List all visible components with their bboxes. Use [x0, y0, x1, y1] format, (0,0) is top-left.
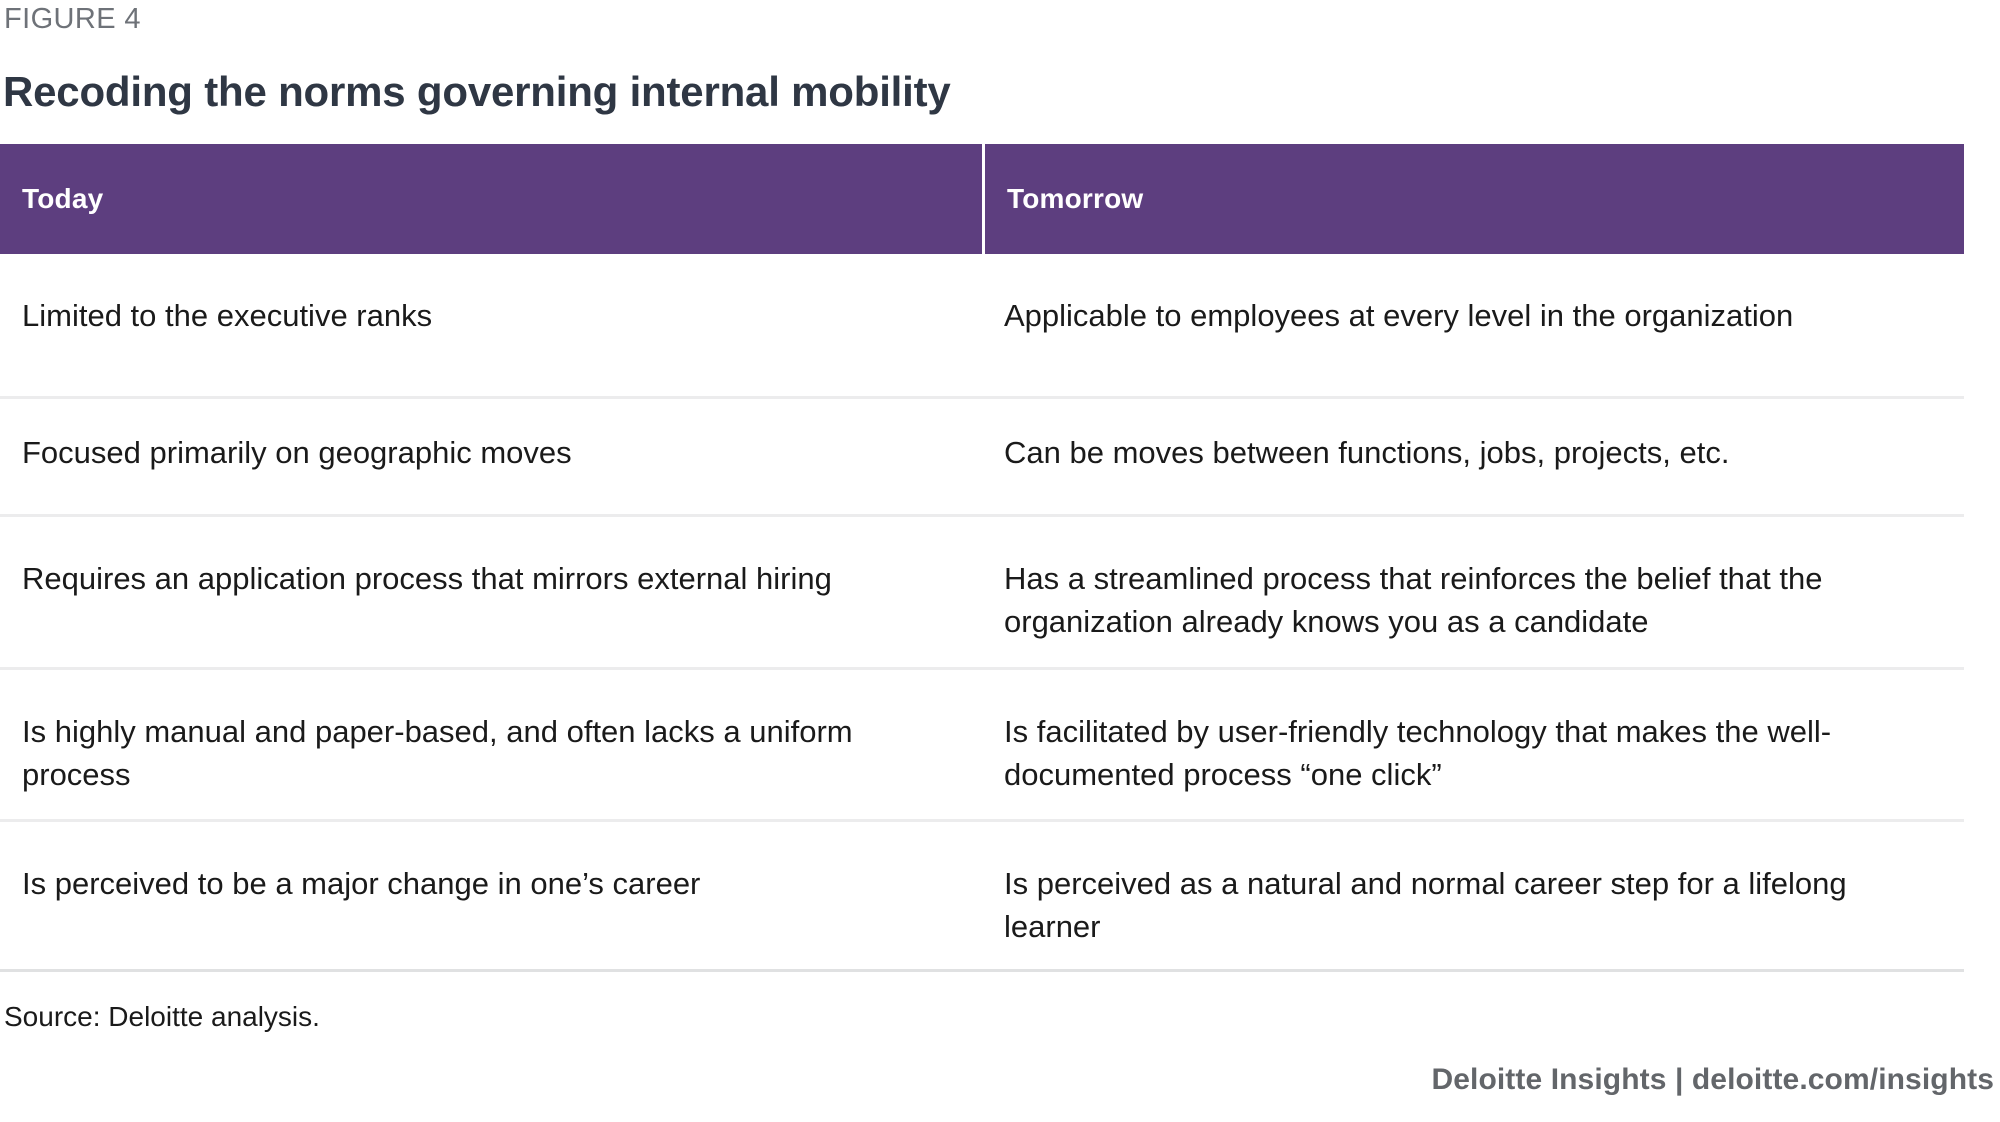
table-row: Is highly manual and paper-based, and of…: [0, 670, 1964, 822]
table-row: Is perceived to be a major change in one…: [0, 822, 1964, 972]
column-header-tomorrow: Tomorrow: [982, 144, 1964, 254]
cell-tomorrow: Has a streamlined process that reinforce…: [982, 517, 1964, 670]
cell-today: Is highly manual and paper-based, and of…: [0, 670, 982, 822]
table-row: Requires an application process that mir…: [0, 517, 1964, 670]
figure-title: Recoding the norms governing internal mo…: [3, 68, 951, 116]
table-row: Limited to the executive ranks Applicabl…: [0, 254, 1964, 399]
comparison-table: Today Tomorrow Limited to the executive …: [0, 144, 1964, 972]
column-header-today: Today: [0, 144, 982, 254]
cell-today: Is perceived to be a major change in one…: [0, 822, 982, 972]
cell-today: Limited to the executive ranks: [0, 254, 982, 399]
table-row: Focused primarily on geographic moves Ca…: [0, 399, 1964, 517]
table-header-row: Today Tomorrow: [0, 144, 1964, 254]
figure-label: FIGURE 4: [4, 2, 141, 36]
figure-container: FIGURE 4 Recoding the norms governing in…: [0, 0, 2000, 1122]
cell-tomorrow: Is perceived as a natural and normal car…: [982, 822, 1964, 972]
cell-today: Requires an application process that mir…: [0, 517, 982, 670]
cell-today: Focused primarily on geographic moves: [0, 399, 982, 517]
deloitte-insights-brand: Deloitte Insights | deloitte.com/insight…: [1431, 1062, 1994, 1098]
cell-tomorrow: Can be moves between functions, jobs, pr…: [982, 399, 1964, 517]
cell-tomorrow: Is facilitated by user-friendly technolo…: [982, 670, 1964, 822]
source-note: Source: Deloitte analysis.: [4, 1000, 320, 1034]
cell-tomorrow: Applicable to employees at every level i…: [982, 254, 1964, 399]
